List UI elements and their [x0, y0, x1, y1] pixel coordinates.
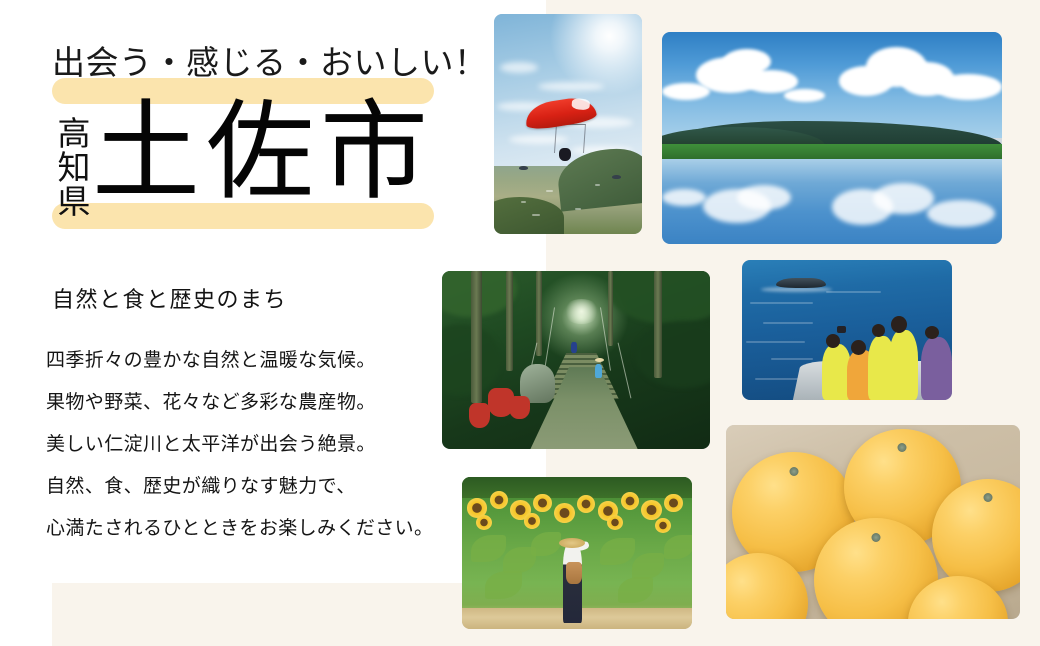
whale-watching-photo	[742, 260, 952, 400]
brochure-page: 出会う・感じる・おいしい！ 高知県 土佐市 自然と食と歴史のまち 四季折々の豊か…	[0, 0, 1040, 646]
forest-suspension-bridge-photo	[442, 271, 710, 449]
intro-line: 果物や野菜、花々など多彩な農産物。	[46, 382, 466, 424]
intro-line: 自然、食、歴史が織りなす魅力で、	[46, 466, 466, 508]
catchphrase-text: 出会う・感じる・おいしい！	[52, 48, 452, 81]
intro-line: 美しい仁淀川と太平洋が出会う絶景。	[46, 424, 466, 466]
subheading: 自然と食と歴史のまち	[52, 282, 287, 314]
prefecture-name: 高知県	[48, 116, 88, 218]
intro-paragraph: 四季折々の豊かな自然と温暖な気候。 果物や野菜、花々など多彩な農産物。 美しい仁…	[46, 340, 466, 550]
intro-line: 四季折々の豊かな自然と温暖な気候。	[46, 340, 466, 382]
citrus-fruit-photo	[726, 425, 1020, 619]
city-name: 土佐市	[92, 100, 434, 208]
sunflower-field-photo	[462, 477, 692, 629]
river-reflection-photo	[662, 32, 1002, 244]
intro-line: 心満たされるひとときをお楽しみください。	[46, 508, 466, 550]
paragliding-over-town-photo	[494, 14, 642, 234]
